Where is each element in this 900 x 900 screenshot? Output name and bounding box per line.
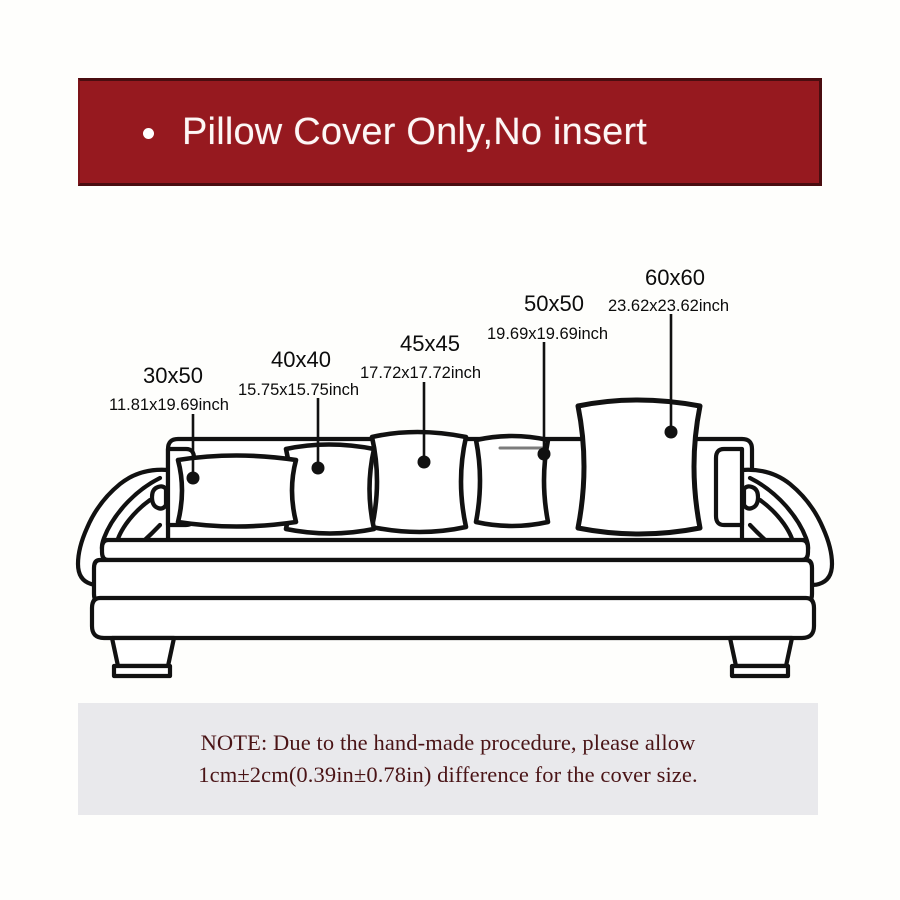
leader-dot-50x50 — [538, 448, 551, 461]
callout-size-cm-45x45: 45x45 — [400, 331, 460, 357]
leader-dot-40x40 — [312, 462, 325, 475]
callout-size-cm-50x50: 50x50 — [524, 291, 584, 317]
note-line-1: NOTE: Due to the hand-made procedure, pl… — [201, 727, 696, 759]
callout-size-inch-50x50: 19.69x19.69inch — [487, 325, 608, 344]
infographic-page: Pillow Cover Only,No insert — [0, 0, 900, 900]
callout-size-cm-60x60: 60x60 — [645, 265, 705, 291]
callout-size-cm-40x40: 40x40 — [271, 347, 331, 373]
callout-size-cm-30x50: 30x50 — [143, 363, 203, 389]
note-panel: NOTE: Due to the hand-made procedure, pl… — [78, 703, 818, 815]
note-line-2: 1cm±2cm(0.39in±0.78in) difference for th… — [198, 759, 697, 791]
leader-dot-60x60 — [665, 426, 678, 439]
callout-size-inch-30x50: 11.81x19.69inch — [109, 396, 229, 415]
callout-size-inch-40x40: 15.75x15.75inch — [238, 381, 359, 400]
callout-size-inch-60x60: 23.62x23.62inch — [608, 297, 729, 316]
leader-dot-45x45 — [418, 456, 431, 469]
callout-size-inch-45x45: 17.72x17.72inch — [360, 364, 481, 383]
leader-dot-30x50 — [187, 472, 200, 485]
